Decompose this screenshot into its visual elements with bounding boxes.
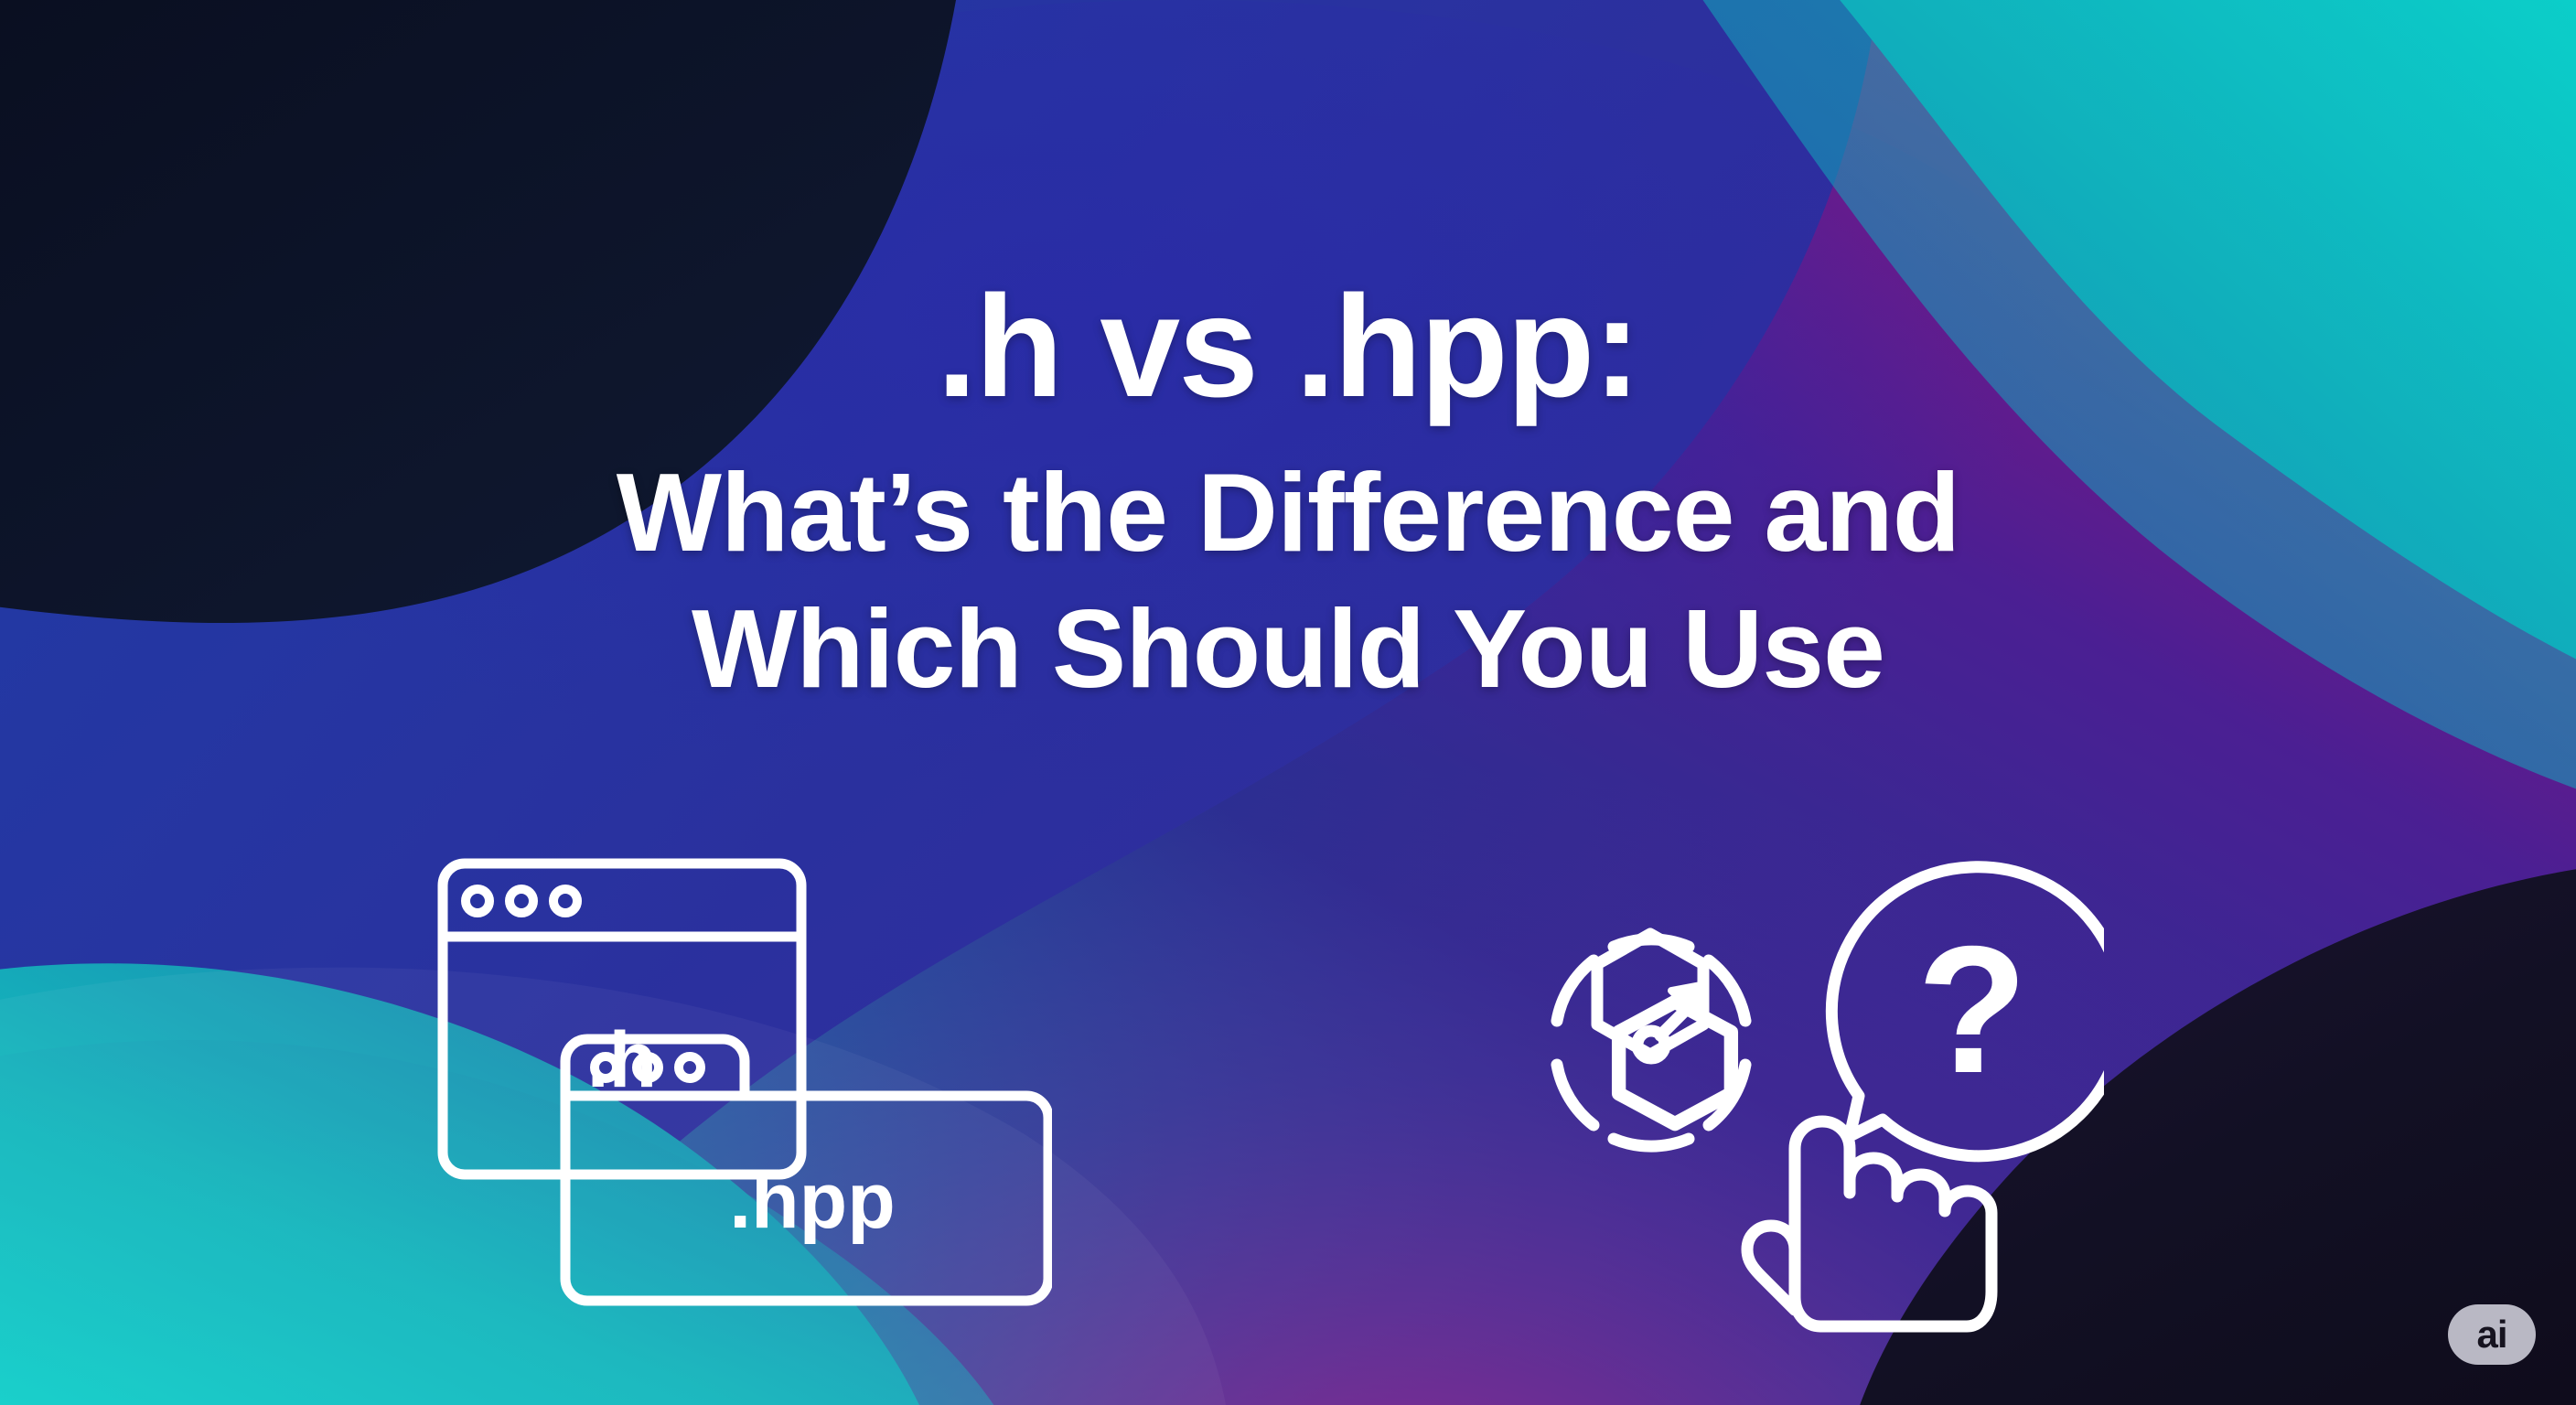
question-mark-glyph: ? xyxy=(1917,908,2028,1110)
file-window-hpp-dot-3 xyxy=(679,1056,701,1078)
file-window-h-dot-2 xyxy=(510,889,533,913)
background-artwork xyxy=(0,0,2576,1405)
file-window-h: .h xyxy=(443,863,801,1174)
question-illustration: ? xyxy=(1519,842,2104,1335)
poster-canvas: .h vs .hpp: What’s the Difference and Wh… xyxy=(0,0,2576,1405)
ai-logo-badge[interactable]: ai xyxy=(2448,1304,2536,1365)
file-window-hpp-label: .hpp xyxy=(729,1157,896,1245)
question-speech-bubble: ? xyxy=(1831,867,2104,1156)
file-windows-illustration: .h .hpp xyxy=(430,851,1052,1317)
file-window-h-dot-3 xyxy=(553,889,577,913)
file-window-h-dot-1 xyxy=(466,889,489,913)
hexagon-target-icon xyxy=(1557,934,1745,1146)
